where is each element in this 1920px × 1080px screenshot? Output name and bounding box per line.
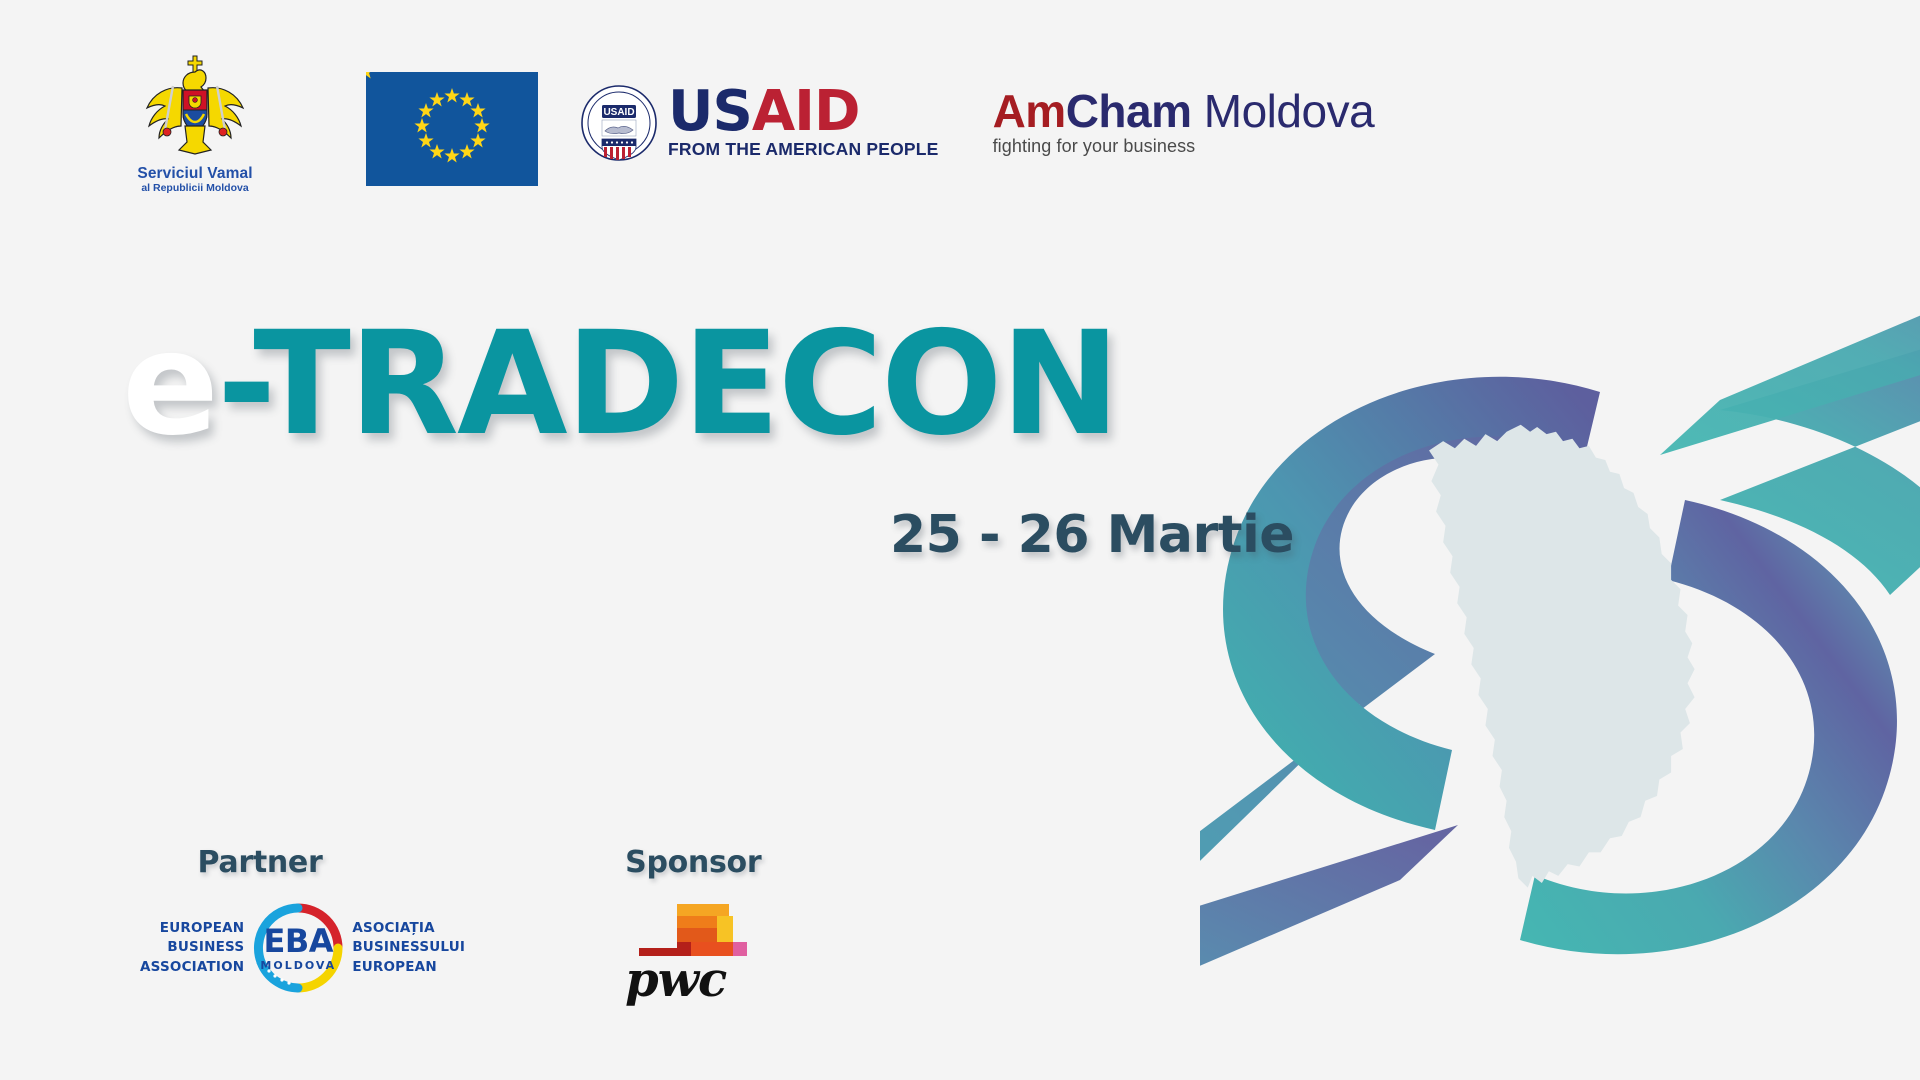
eba-monogram-block: EBA MOLDOVA xyxy=(252,902,344,994)
eba-monogram: EBA xyxy=(264,925,334,957)
partner-column: Partner EUROPEAN BUSINESS ASSOCIATION xyxy=(140,845,465,994)
eba-right-line-2: BUSINESSULUI xyxy=(352,938,465,958)
swoosh-ribbon-bottom xyxy=(1200,825,1458,1080)
amcham-word-am: Am xyxy=(993,85,1066,137)
swoosh-ribbon-top xyxy=(1660,250,1920,455)
logo-usaid: USAID USAID FROM THE AMERICAN PE xyxy=(580,84,939,162)
sponsor-logo-row: Serviciul Vamal al Republicii Moldova xyxy=(120,52,1374,195)
amcham-wordmark: AmCham Moldova xyxy=(993,88,1375,134)
eba-left-line-2: BUSINESS xyxy=(140,938,244,958)
customs-logo-name: Serviciul Vamal xyxy=(137,166,252,182)
usaid-tagline: FROM THE AMERICAN PEOPLE xyxy=(668,139,939,160)
eba-country: MOLDOVA xyxy=(260,959,336,972)
swoosh-upper-arc xyxy=(1720,250,1920,595)
usaid-wordmark-us: US xyxy=(668,79,752,144)
amcham-word-cham: Cham xyxy=(1066,85,1192,137)
poster-canvas: Serviciul Vamal al Republicii Moldova xyxy=(0,0,1920,1080)
page-title: e-TRADECON xyxy=(122,312,1182,455)
moldova-map-silhouette xyxy=(1429,425,1695,888)
moldova-coat-of-arms-icon xyxy=(135,52,255,162)
title-main-tradecon: -TRADECON xyxy=(217,300,1118,467)
svg-text:USAID: USAID xyxy=(603,107,634,118)
usaid-wordmark-aid: AID xyxy=(752,79,860,144)
eba-right-text: ASOCIAȚIA BUSINESSULUI EUROPEAN xyxy=(352,919,465,978)
amcham-tagline: fighting for your business xyxy=(993,136,1375,157)
hero-title-block: e-TRADECON xyxy=(122,312,1182,455)
amcham-word-moldova: Moldova xyxy=(1192,85,1375,137)
pwc-wordmark: pwc xyxy=(625,956,755,1004)
sponsor-heading: Sponsor xyxy=(625,845,745,880)
eba-left-line-3: ASSOCIATION xyxy=(140,958,244,978)
partner-heading: Partner xyxy=(140,845,380,880)
logo-amcham-moldova: AmCham Moldova fighting for your busines… xyxy=(993,88,1375,157)
swoosh-teal-arc xyxy=(1223,377,1600,830)
title-prefix-e: e xyxy=(122,300,217,467)
logo-eba-moldova: EUROPEAN BUSINESS ASSOCIATION xyxy=(140,902,465,994)
sponsor-column: Sponsor pwc xyxy=(625,845,755,1004)
swoosh-purple-arc xyxy=(1520,500,1897,954)
eba-right-line-3: EUROPEAN xyxy=(352,958,465,978)
eba-right-line-1: ASOCIAȚIA xyxy=(352,919,465,939)
swoosh-lower-arc xyxy=(1200,383,1595,1080)
eba-left-text: EUROPEAN BUSINESS ASSOCIATION xyxy=(140,919,244,978)
logo-european-union xyxy=(366,72,538,186)
credits-row: Partner EUROPEAN BUSINESS ASSOCIATION xyxy=(140,845,755,1004)
usaid-seal-icon: USAID xyxy=(580,84,658,162)
event-date: 25 - 26 Martie xyxy=(890,505,1294,565)
logo-pwc: pwc xyxy=(625,902,755,1004)
eba-left-line-1: EUROPEAN xyxy=(140,919,244,939)
pwc-blocks-icon xyxy=(631,902,751,958)
moldova-swoosh-graphic xyxy=(1200,250,1920,1080)
usaid-wordmark: USAID xyxy=(668,86,939,138)
eu-flag-icon xyxy=(366,72,538,186)
logo-serviciul-vamal: Serviciul Vamal al Republicii Moldova xyxy=(120,52,270,195)
eba-ring-icon: EBA MOLDOVA xyxy=(252,902,344,994)
customs-logo-subtitle: al Republicii Moldova xyxy=(141,183,248,195)
